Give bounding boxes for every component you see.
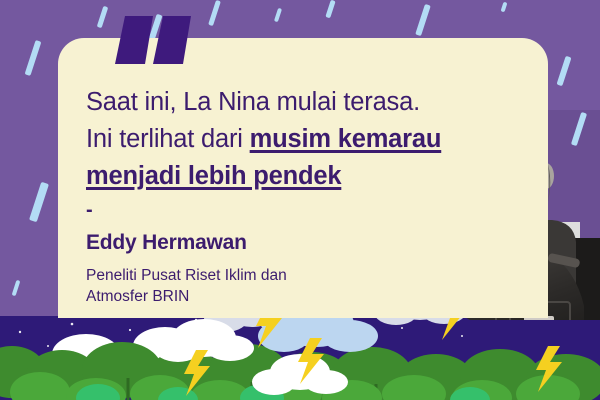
quote-line-2-plain: Ini terlihat dari	[86, 125, 250, 153]
rain-streak-icon	[97, 6, 109, 28]
attribution-dash: -	[86, 199, 548, 221]
rain-streak-icon	[25, 40, 42, 76]
rain-streak-icon	[325, 0, 335, 18]
rain-streak-icon	[415, 4, 431, 36]
rain-streak-icon	[274, 8, 282, 23]
quote-line-2-emphasis: musim kemarau	[250, 125, 442, 153]
quote-line-3: menjadi lebih pendek	[86, 158, 548, 195]
rain-streak-icon	[501, 2, 508, 13]
quote-card-graphic: Saat ini, La Nina mulai terasa. Ini terl…	[0, 0, 600, 400]
quote-mark-icon	[115, 16, 193, 64]
attribution-name: Eddy Hermawan	[86, 229, 548, 257]
rain-streak-icon	[208, 0, 221, 26]
attribution-role-line-2: Atmosfer BRIN	[86, 286, 548, 307]
quote-card: Saat ini, La Nina mulai terasa. Ini terl…	[58, 38, 548, 318]
quote-line-2: Ini terlihat dari musim kemarau	[86, 121, 548, 158]
rain-streak-icon	[557, 56, 572, 86]
quote-line-1: Saat ini, La Nina mulai terasa.	[86, 84, 548, 121]
attribution-role-line-1: Peneliti Pusat Riset Iklim dan	[86, 265, 548, 286]
rain-streak-icon	[29, 182, 49, 223]
quote-line-3-emphasis: menjadi lebih pendek	[86, 162, 341, 190]
